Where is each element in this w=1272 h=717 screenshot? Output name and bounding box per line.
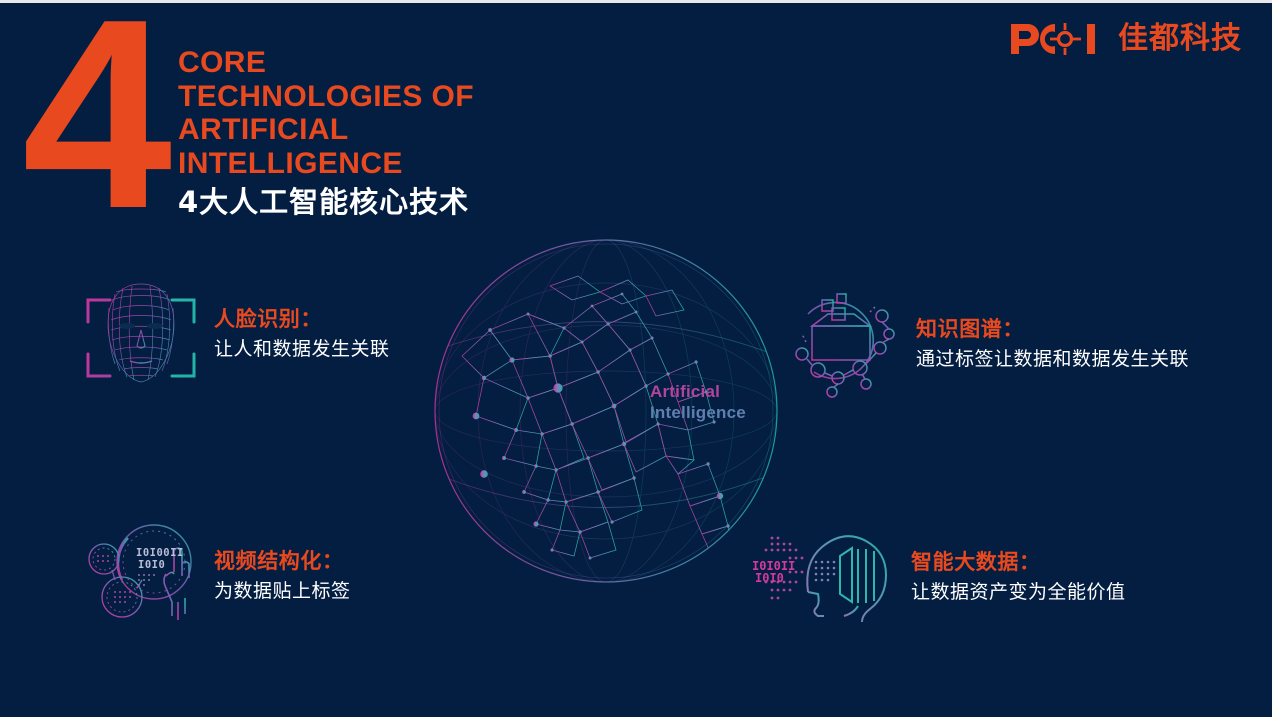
feature-intelligent-big-data[interactable]: I0I0II I0I0 智能大数据： 让数据资产变为全能价值 (752, 520, 1126, 635)
feature-description: 为数据贴上标签 (214, 578, 351, 605)
binary-line-2: I0I0 (138, 559, 165, 571)
headline-line-2: TECHNOLOGIES OF (178, 80, 698, 114)
binary-line-2: I0I0 (755, 571, 784, 585)
feature-knowledge-graph[interactable]: 知识图谱： 通过标签让数据和数据发生关联 (792, 286, 1189, 403)
knowledge-graph-database-icon (792, 286, 902, 403)
headline-block: CORE TECHNOLOGIES OF ARTIFICIAL INTELLIG… (178, 46, 698, 221)
headline-number: 4 (22, 0, 166, 250)
feature-description: 让人和数据发生关联 (214, 336, 390, 363)
globe-center-label: Artificial Intelligence (650, 381, 746, 424)
binary-line-1: I0I00II (136, 547, 184, 559)
feature-title: 知识图谱： (916, 316, 1189, 343)
headline-line-1: CORE (178, 46, 698, 80)
logo-chinese-name: 佳都科技 (1118, 24, 1242, 54)
video-structuring-tagging-icon: I0I00II I0I0 (82, 518, 200, 635)
globe-label-line-1: Artificial (650, 381, 746, 402)
feature-title: 智能大数据： (911, 549, 1126, 576)
feature-title: 人脸识别： (214, 306, 390, 333)
head-profile-bigdata-icon: I0I0II I0I0 (752, 520, 897, 635)
logo-mark (1009, 22, 1109, 56)
headline-chinese-subtitle: 4大人工智能核心技术 (178, 184, 698, 220)
headline-line-3: ARTIFICIAL (178, 113, 698, 147)
headline-line-4: INTELLIGENCE (178, 147, 698, 181)
feature-video-structuring[interactable]: I0I00II I0I0 视频结构化： (82, 518, 351, 635)
slide-canvas: 佳都科技 4 CORE TECHNOLOGIES OF ARTIFICIAL I… (0, 0, 1272, 717)
pci-logo-icon (1009, 22, 1109, 56)
feature-text: 智能大数据： 让数据资产变为全能价值 (911, 549, 1126, 606)
feature-text: 视频结构化： 为数据贴上标签 (214, 548, 351, 605)
top-edge-strip (0, 0, 1272, 3)
feature-description: 通过标签让数据和数据发生关联 (916, 346, 1189, 373)
feature-title: 视频结构化： (214, 548, 351, 575)
feature-text: 人脸识别： 让人和数据发生关联 (214, 306, 390, 363)
brand-logo[interactable]: 佳都科技 (1009, 20, 1242, 58)
feature-face-recognition[interactable]: 人脸识别： 让人和数据发生关联 (82, 272, 390, 397)
face-recognition-scan-icon (82, 272, 200, 397)
feature-text: 知识图谱： 通过标签让数据和数据发生关联 (916, 316, 1189, 373)
globe-label-line-2: Intelligence (650, 402, 746, 423)
feature-description: 让数据资产变为全能价值 (911, 579, 1126, 606)
